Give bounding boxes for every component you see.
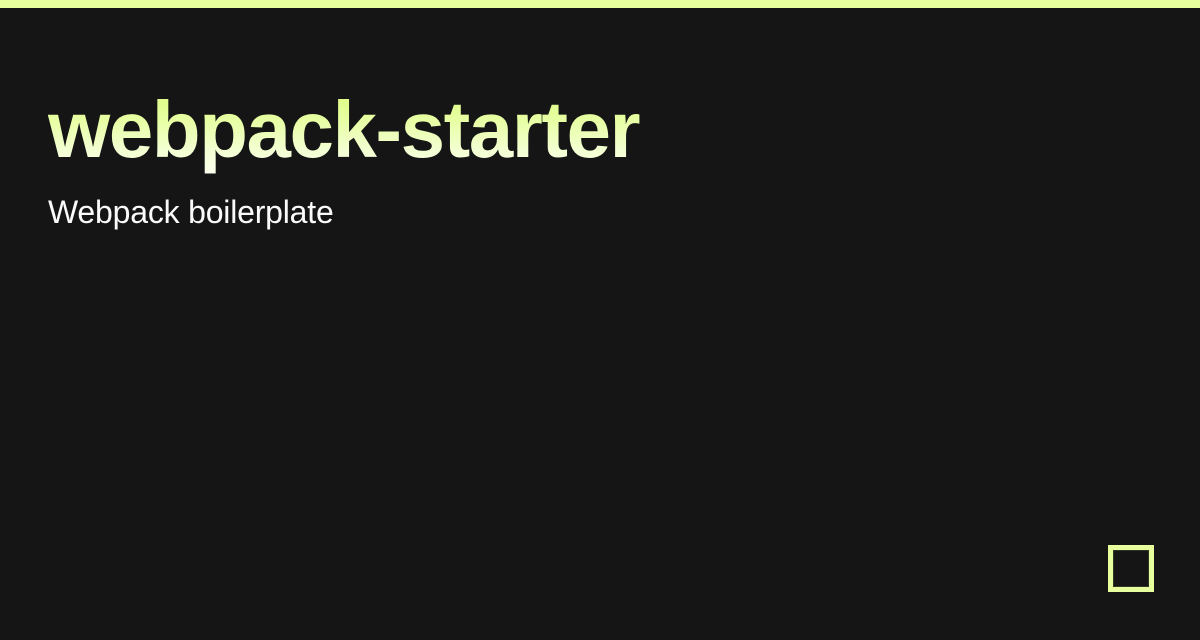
og-preview-card: webpack-starter Webpack boilerplate	[0, 0, 1200, 640]
page-title: webpack-starter	[48, 84, 1108, 176]
square-outline-icon	[1108, 545, 1154, 592]
page-subtitle: Webpack boilerplate	[48, 176, 1108, 232]
card-content: webpack-starter Webpack boilerplate	[48, 84, 1108, 232]
top-accent-bar	[0, 0, 1200, 8]
